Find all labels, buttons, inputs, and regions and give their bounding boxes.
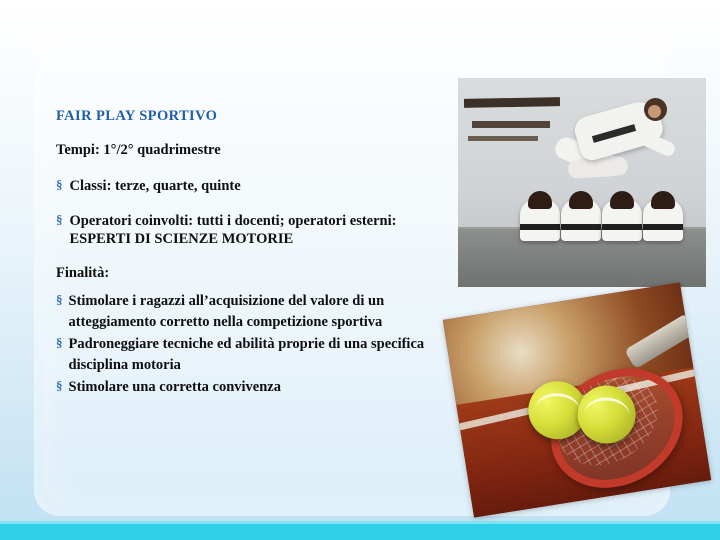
karate-photo-kneeling-head bbox=[528, 191, 552, 209]
karate-photo-kneeling-head bbox=[651, 191, 675, 209]
list-item-label: Padroneggiare tecniche ed abilità propri… bbox=[69, 334, 457, 376]
list-item: § Stimolare i ragazzi all’acquisizione d… bbox=[56, 291, 456, 333]
karate-photo bbox=[458, 78, 706, 287]
list-item: § Padroneggiare tecniche ed abilità prop… bbox=[56, 334, 456, 376]
list-item-label: Classi: terze, quarte, quinte bbox=[70, 177, 457, 196]
karate-photo-jumper-face bbox=[648, 105, 661, 118]
bottom-accent-bar bbox=[0, 524, 720, 540]
karate-photo-kneeling-belt bbox=[643, 224, 683, 230]
karate-photo-kneeling-person bbox=[643, 199, 683, 241]
list-item: § Operatori coinvolti: tutti i docenti; … bbox=[56, 212, 456, 249]
karate-photo-kneeling-head bbox=[610, 191, 634, 209]
text-content: FAIR PLAY SPORTIVO Tempi: 1°/2° quadrime… bbox=[56, 108, 456, 399]
karate-photo-kneeling-belt bbox=[602, 224, 642, 230]
subtitle-tempi: Tempi: 1°/2° quadrimestre bbox=[56, 142, 456, 159]
page-title: FAIR PLAY SPORTIVO bbox=[56, 108, 456, 125]
list-item: § Stimolare una corretta convivenza bbox=[56, 377, 456, 398]
karate-photo-kneeling-belt bbox=[561, 224, 601, 230]
karate-photo-beam bbox=[464, 97, 560, 108]
bullet-marker-icon: § bbox=[56, 291, 63, 310]
bullet-marker-icon: § bbox=[56, 334, 63, 353]
finalita-heading: Finalità: bbox=[56, 265, 456, 282]
karate-photo-kneeling-person bbox=[602, 199, 642, 241]
karate-photo-kneeling-head bbox=[569, 191, 593, 209]
karate-photo-kneeling-person bbox=[520, 199, 560, 241]
tennis-photo bbox=[443, 282, 711, 517]
bullet-marker-icon: § bbox=[56, 212, 63, 228]
karate-photo-shelf bbox=[468, 136, 538, 141]
finalita-list: § Stimolare i ragazzi all’acquisizione d… bbox=[56, 291, 456, 398]
list-item-label: Stimolare i ragazzi all’acquisizione del… bbox=[69, 291, 457, 333]
karate-photo-beam-lower bbox=[472, 121, 550, 128]
karate-photo-kneeling-belt bbox=[520, 224, 560, 230]
bullet-marker-icon: § bbox=[56, 177, 63, 193]
list-item-label: Operatori coinvolti: tutti i docenti; op… bbox=[70, 212, 457, 249]
slide: FAIR PLAY SPORTIVO Tempi: 1°/2° quadrime… bbox=[0, 0, 720, 540]
list-item-label: Stimolare una corretta convivenza bbox=[69, 377, 457, 398]
list-item: § Classi: terze, quarte, quinte bbox=[56, 177, 456, 196]
karate-photo-kneeling-person bbox=[561, 199, 601, 241]
bullet-marker-icon: § bbox=[56, 377, 63, 396]
